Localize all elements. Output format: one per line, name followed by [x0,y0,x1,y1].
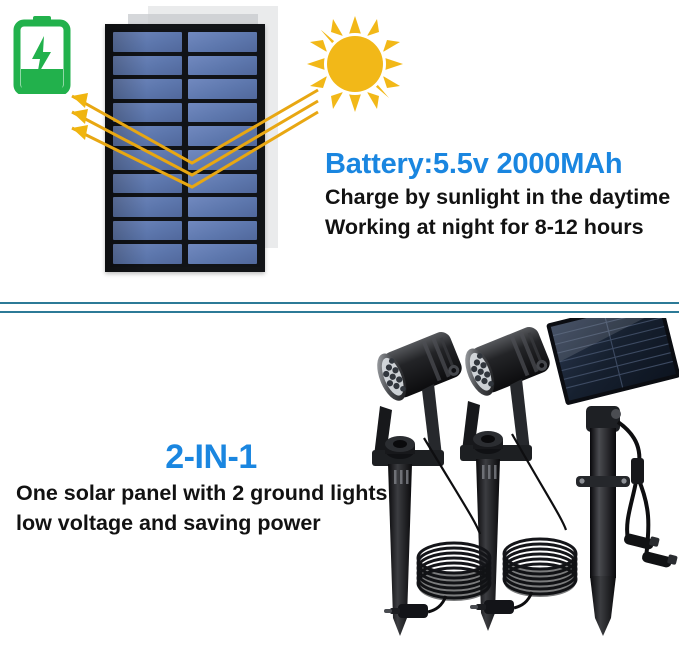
coil-loops [418,543,490,601]
battery-line-2: Working at night for 8-12 hours [325,212,675,242]
cable-junction [631,458,644,484]
panel-ground-stake [590,576,616,636]
lead-wire [512,434,566,530]
two-in-one-line-1: One solar panel with 2 ground lights [16,478,406,508]
battery-heading: Battery:5.5v 2000MAh [325,146,675,182]
yoke-arm-right [510,379,530,451]
female-connector-1 [623,533,660,551]
two-in-one-text-block: 2-IN-1 One solar panel with 2 ground lig… [16,436,406,538]
two-in-one-line-2: low voltage and saving power [16,508,406,538]
infographic-page: Battery:5.5v 2000MAh Charge by sunlight … [0,0,679,646]
two-in-one-section: 2-IN-1 One solar panel with 2 ground lig… [0,318,679,646]
panel-post [590,428,616,578]
light-ray [72,90,318,163]
divider-line-top [0,302,679,304]
ray-arrowhead [72,109,88,124]
coil-loops [504,539,576,597]
divider-line-bottom [0,311,679,313]
ray-arrowhead [72,125,88,140]
product-photo-group [350,318,679,646]
yoke-arm-right [422,384,442,456]
female-connector-2 [641,551,678,569]
two-in-one-heading: 2-IN-1 [16,436,406,478]
mount-screw [611,409,621,419]
section-divider [0,302,679,318]
battery-line-1: Charge by sunlight in the daytime [325,182,675,212]
ray-arrowhead [72,93,88,108]
barrel-plug-2 [470,600,514,614]
barrel-plug-1 [384,604,428,618]
battery-text-block: Battery:5.5v 2000MAh Charge by sunlight … [325,146,675,242]
battery-spec-section: Battery:5.5v 2000MAh Charge by sunlight … [0,0,679,302]
